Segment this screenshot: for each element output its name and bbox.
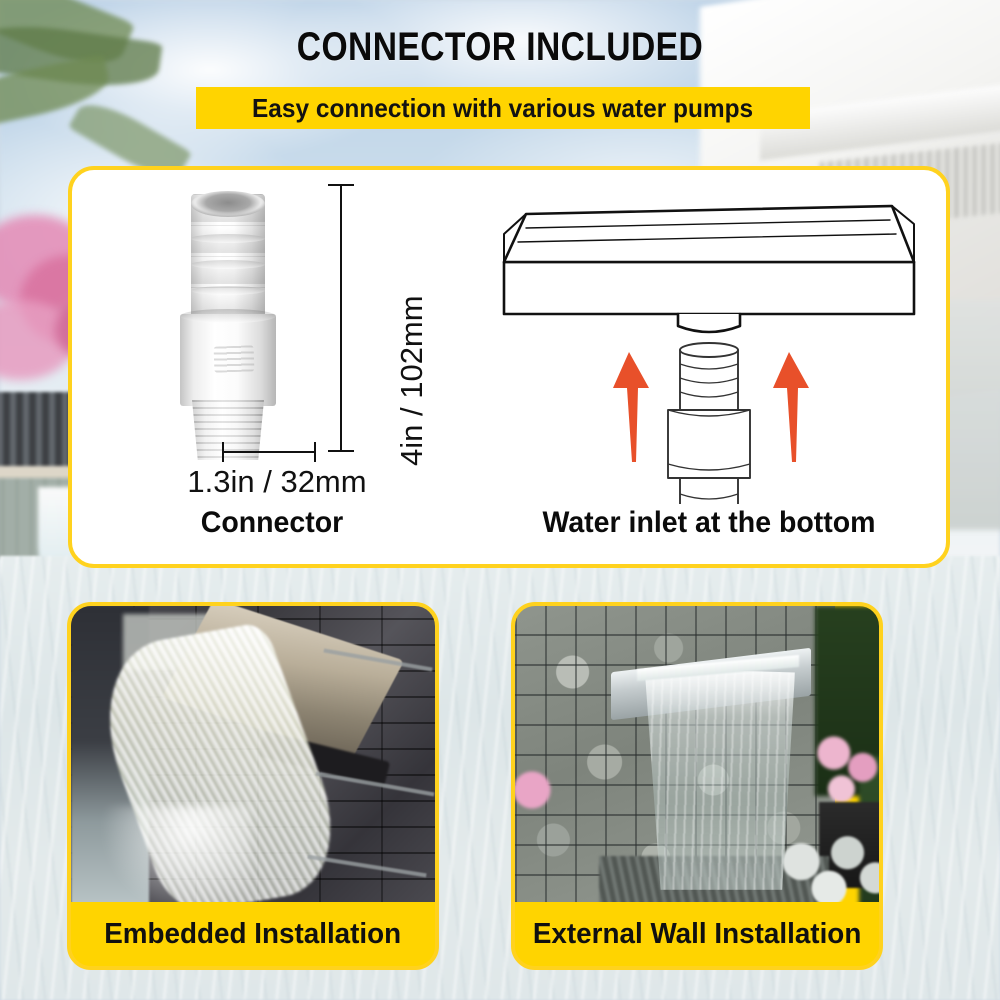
barb-ridge [191, 286, 265, 295]
spillway-inlet-nub [678, 314, 740, 332]
main-info-panel: 4in / 102mm 1.3in / 32mm Connector [68, 166, 950, 568]
connector-opening [191, 191, 265, 217]
spillway-front-face [504, 262, 914, 314]
flow-arrow-left [613, 352, 649, 462]
external-wall-installation-caption: External Wall Installation [533, 918, 861, 951]
decorative-rocks [771, 832, 879, 906]
height-dimension-line [340, 184, 342, 452]
connector-lower-barb [680, 478, 738, 504]
connector-hex-collar-outline [668, 410, 750, 478]
width-dimension-cap-right [314, 442, 316, 462]
water-spray [101, 806, 251, 906]
connector-section: 4in / 102mm 1.3in / 32mm Connector [72, 170, 472, 564]
spillway-top-bevel [504, 206, 914, 262]
embedded-installation-caption-bar: Embedded Installation [71, 902, 435, 966]
external-wall-installation-photo [515, 606, 879, 906]
width-dimension-cap-left [222, 442, 224, 462]
barb-ridge [191, 260, 265, 269]
width-dimension-label: 1.3in / 32mm [132, 464, 422, 500]
card-external-wall-installation: External Wall Installation [511, 602, 883, 970]
page-title: CONNECTOR INCLUDED [80, 26, 920, 68]
card-embedded-installation: Embedded Installation [67, 602, 439, 970]
connector-embossed-text [214, 345, 255, 372]
embedded-installation-photo [71, 606, 435, 906]
connector-caption: Connector [82, 506, 462, 540]
height-dimension-label: 4in / 102mm [394, 246, 430, 466]
barb-ridge [191, 234, 265, 243]
subtitle-banner: Easy connection with various water pumps [196, 87, 810, 129]
external-wall-installation-caption-bar: External Wall Installation [515, 902, 879, 966]
height-dimension-cap-bottom [328, 450, 354, 452]
connector-top-ellipse [680, 343, 738, 357]
spillway-line-diagram [482, 184, 936, 504]
embedded-installation-caption: Embedded Installation [105, 918, 402, 951]
pink-flowers [515, 764, 553, 816]
infographic-canvas: CONNECTOR INCLUDED Easy connection with … [0, 0, 1000, 1000]
water-sheet [635, 668, 795, 890]
flow-arrow-right [773, 352, 809, 462]
pvc-connector-photo [180, 194, 276, 456]
inlet-diagram-section: Water inlet at the bottom [472, 170, 946, 564]
inlet-caption: Water inlet at the bottom [484, 506, 934, 540]
width-dimension-line [222, 451, 316, 453]
subtitle-text: Easy connection with various water pumps [252, 93, 753, 124]
height-dimension-cap-top [328, 184, 354, 186]
